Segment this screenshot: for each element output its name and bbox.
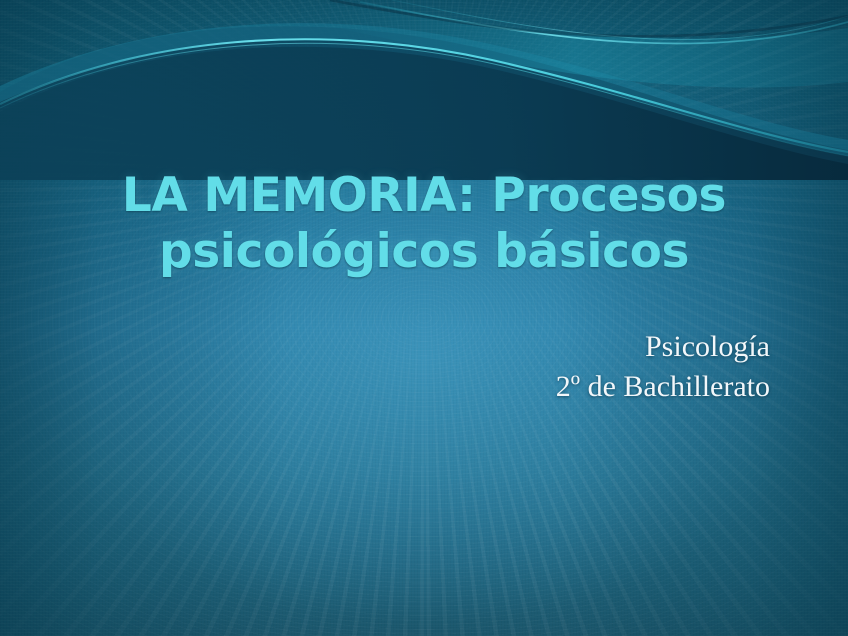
slide-title-line-2: psicológicos básicos (34, 224, 814, 280)
wave-decoration-icon (0, 0, 848, 180)
slide-subtitle-line-1: Psicología (300, 327, 770, 367)
presentation-slide: LA MEMORIA: Procesos psicológicos básico… (0, 0, 848, 636)
slide-title-line-1: LA MEMORIA: Procesos (34, 168, 814, 224)
slide-subtitle-line-2: 2º de Bachillerato (300, 367, 770, 407)
slide-title: LA MEMORIA: Procesos psicológicos básico… (34, 168, 814, 281)
slide-subtitle: Psicología 2º de Bachillerato (300, 327, 770, 406)
